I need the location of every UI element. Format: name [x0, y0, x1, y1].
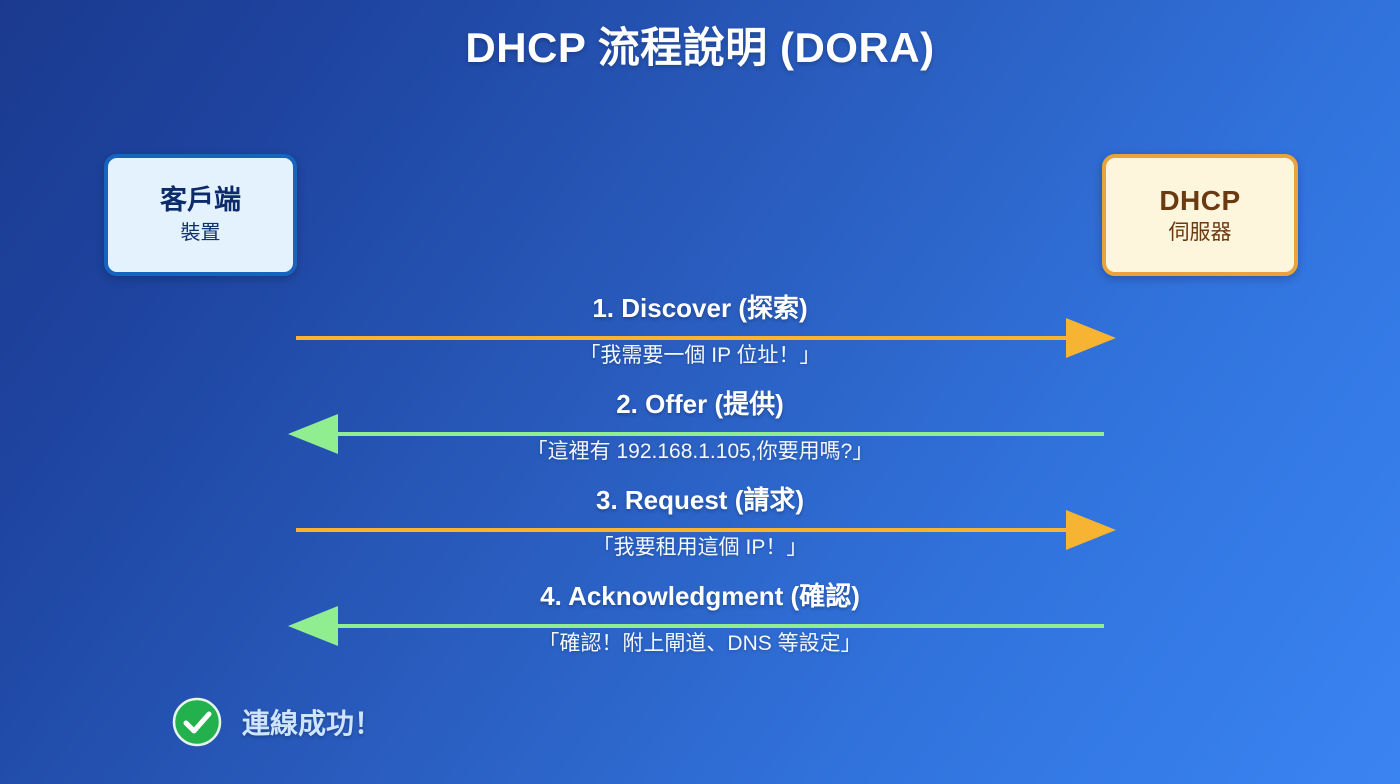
server-node-box: DHCP 伺服器	[1102, 154, 1298, 276]
client-node-subtitle: 裝置	[181, 222, 221, 244]
step-3-quote: 「我要租用這個 IP！」	[280, 531, 1120, 561]
connection-success-label: 連線成功！	[242, 702, 382, 742]
message-step-1: 1. Discover (探索) 「我需要一個 IP 位址！」	[280, 288, 1120, 384]
server-node-subtitle: 伺服器	[1169, 221, 1232, 244]
server-node-title: DHCP	[1159, 186, 1240, 217]
dhcp-dora-diagram: DHCP 流程說明 (DORA) 客戶端 裝置 DHCP 伺服器 1. Disc…	[0, 0, 1400, 784]
step-4-quote: 「確認！附上閘道、DNS 等設定」	[280, 627, 1120, 657]
connection-success-row: 連線成功！	[172, 697, 382, 747]
message-step-2: 2. Offer (提供) 「這裡有 192.168.1.105,你要用嗎?」	[280, 384, 1120, 480]
page-title: DHCP 流程說明 (DORA)	[0, 14, 1400, 75]
message-step-3: 3. Request (請求) 「我要租用這個 IP！」	[280, 480, 1120, 576]
client-node-title: 客戶端	[160, 186, 241, 216]
step-2-quote: 「這裡有 192.168.1.105,你要用嗎?」	[280, 435, 1120, 465]
message-step-4: 4. Acknowledgment (確認) 「確認！附上閘道、DNS 等設定」	[280, 576, 1120, 672]
client-node-box: 客戶端 裝置	[104, 154, 297, 276]
check-circle-icon	[172, 697, 222, 747]
step-1-quote: 「我需要一個 IP 位址！」	[280, 339, 1120, 369]
